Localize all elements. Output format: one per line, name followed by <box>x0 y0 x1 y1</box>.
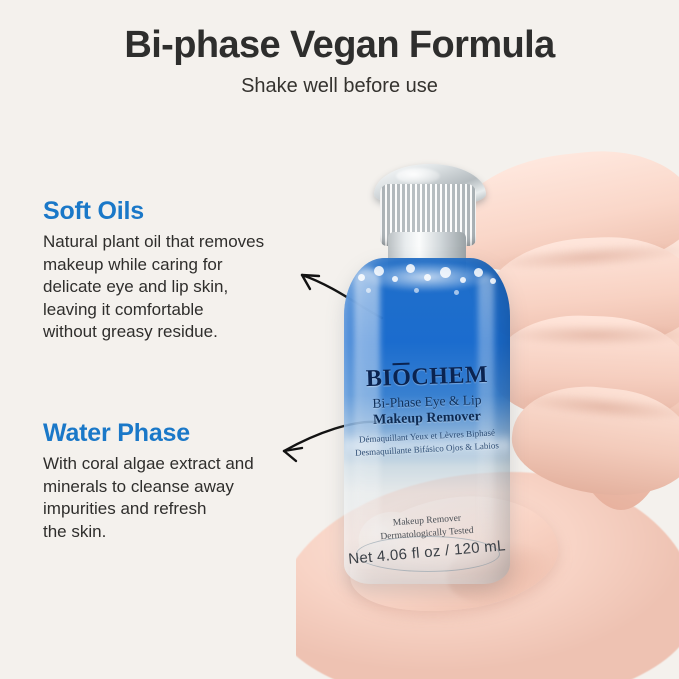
feature-body-line: Natural plant oil that removes <box>43 231 305 253</box>
bottle-body <box>344 258 510 584</box>
page-subtitle: Shake well before use <box>0 76 679 96</box>
feature-body-line: without greasy residue. <box>43 321 305 343</box>
feature-body-line: the skin. <box>43 521 305 543</box>
feature-body-line: delicate eye and lip skin, <box>43 276 305 298</box>
finger-separation <box>502 324 679 346</box>
feature-body-soft-oils: Natural plant oil that removes makeup wh… <box>43 231 305 343</box>
feature-body-line: leaving it comfortable <box>43 299 305 321</box>
cap-highlight <box>396 168 440 184</box>
feature-water-phase: Water Phase With coral algae extract and… <box>43 420 305 543</box>
bottle-highlight-left <box>354 268 380 568</box>
page-title: Bi-phase Vegan Formula <box>0 26 679 64</box>
feature-body-line: minerals to cleanse away <box>43 476 305 498</box>
feature-body-line: impurities and refresh <box>43 498 305 520</box>
feature-body-water-phase: With coral algae extract and minerals to… <box>43 453 305 543</box>
phase-boundary <box>344 432 510 458</box>
bottle-highlight-right <box>478 274 494 544</box>
feature-heading-water-phase: Water Phase <box>43 420 305 446</box>
feature-soft-oils: Soft Oils Natural plant oil that removes… <box>43 198 305 343</box>
feature-heading-soft-oils: Soft Oils <box>43 198 305 224</box>
bottle-shoulder-highlight <box>360 262 492 292</box>
product-infographic: Bi-phase Vegan Formula Shake well before… <box>0 0 679 679</box>
product-photo: BIOCHEM Bi-Phase Eye & Lip Makeup Remove… <box>296 120 679 679</box>
bottle-base <box>356 536 500 572</box>
product-bottle: BIOCHEM Bi-Phase Eye & Lip Makeup Remove… <box>344 166 510 584</box>
feature-body-line: makeup while caring for <box>43 254 305 276</box>
feature-body-line: With coral algae extract and <box>43 453 305 475</box>
